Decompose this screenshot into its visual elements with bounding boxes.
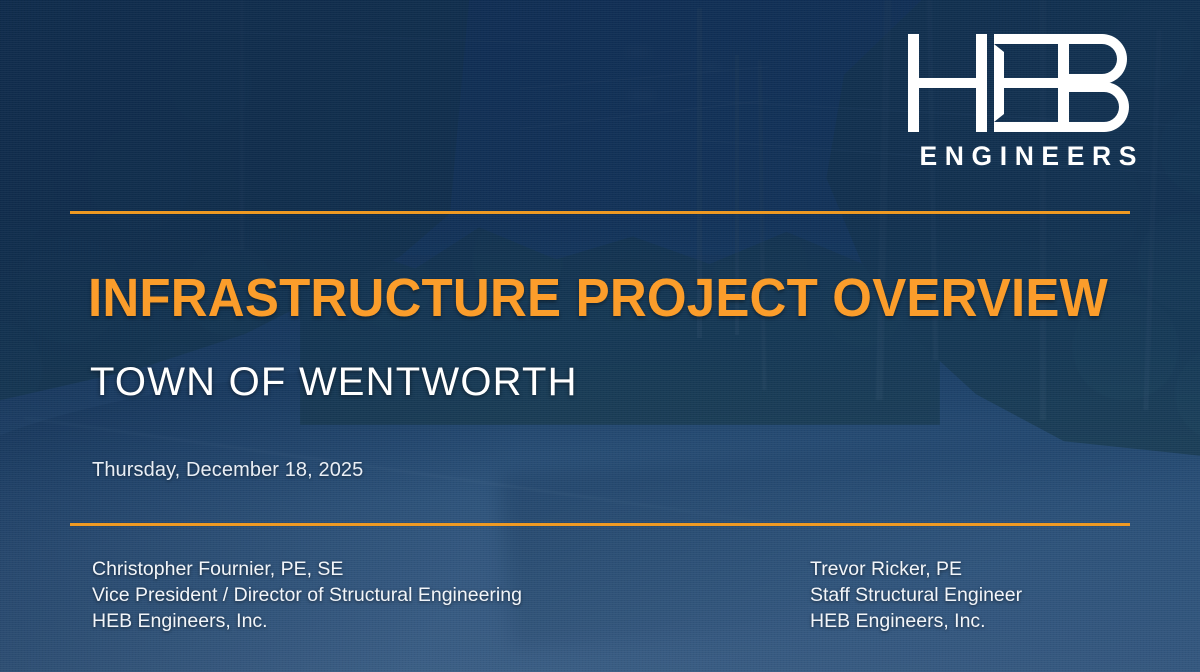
presenter-name: Trevor Ricker, PE	[810, 556, 1022, 582]
page-subtitle: TOWN OF WENTWORTH	[90, 360, 578, 405]
presenter-role: Staff Structural Engineer	[810, 582, 1022, 608]
presentation-date: Thursday, December 18, 2025	[92, 459, 363, 482]
slide-content: ENGINEERS INFRASTRUCTURE PROJECT OVERVIE…	[0, 0, 1200, 672]
presenter-company: HEB Engineers, Inc.	[92, 608, 522, 634]
presenter-company: HEB Engineers, Inc.	[810, 608, 1022, 634]
heb-logo-icon	[906, 34, 1138, 132]
title-slide: ENGINEERS INFRASTRUCTURE PROJECT OVERVIE…	[0, 0, 1200, 672]
presenter-role: Vice President / Director of Structural …	[92, 582, 522, 608]
divider-top	[70, 211, 1130, 214]
heb-logo-wordmark: ENGINEERS	[906, 141, 1144, 172]
presenter-block-primary: Christopher Fournier, PE, SE Vice Presid…	[92, 556, 522, 634]
heb-logo: ENGINEERS	[906, 34, 1138, 172]
presenter-list: Christopher Fournier, PE, SE Vice Presid…	[0, 556, 1200, 656]
presenter-block-secondary: Trevor Ricker, PE Staff Structural Engin…	[810, 556, 1022, 634]
divider-bottom	[70, 523, 1130, 526]
presenter-name: Christopher Fournier, PE, SE	[92, 556, 522, 582]
page-title: INFRASTRUCTURE PROJECT OVERVIEW	[88, 270, 1108, 327]
